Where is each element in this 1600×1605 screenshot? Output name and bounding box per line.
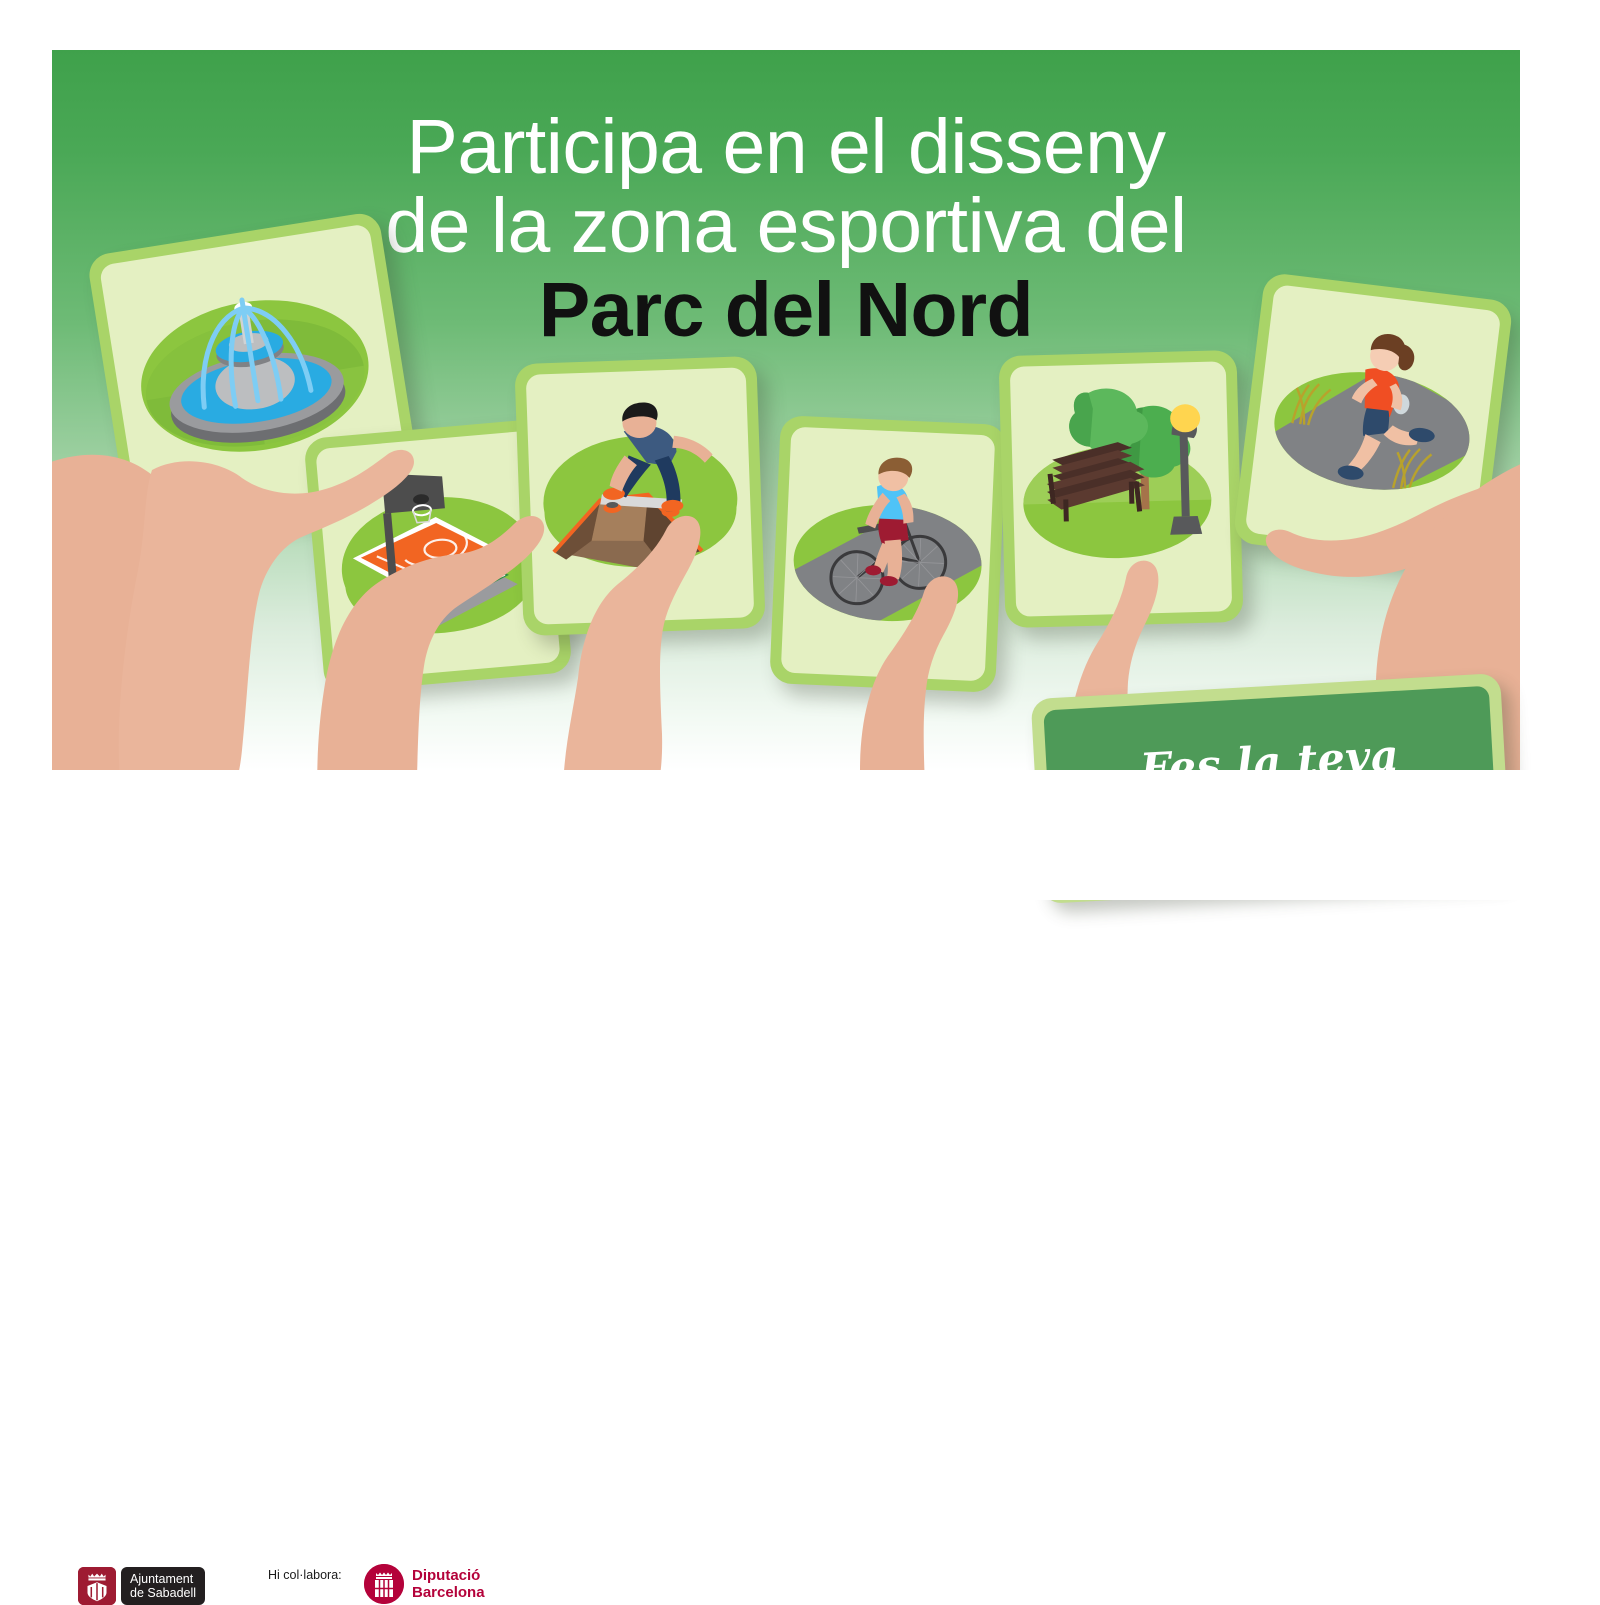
sabadell-line-2: de Sabadell xyxy=(130,1586,196,1600)
park-bench-icon xyxy=(1010,361,1232,617)
sabadell-name-plate: Ajuntament de Sabadell xyxy=(121,1567,205,1605)
card-running-track[interactable] xyxy=(1232,272,1513,572)
card-bike-path[interactable] xyxy=(769,415,1006,693)
sabadell-line-1: Ajuntament xyxy=(130,1572,193,1586)
diputacio-line-2: Barcelona xyxy=(412,1584,485,1601)
card-park-bench-face xyxy=(1010,361,1232,617)
logo-diputacio-barcelona[interactable]: Diputació Barcelona xyxy=(364,1564,485,1604)
diputacio-line-1: Diputació xyxy=(412,1567,480,1584)
headline-line-1: Participa en el disseny xyxy=(52,108,1520,187)
running-track-icon xyxy=(1245,284,1502,560)
card-park-bench[interactable] xyxy=(998,350,1243,628)
footer-bar: Ajuntament de Sabadell Hi col·labora: xyxy=(0,770,1600,900)
skatepark-icon xyxy=(526,367,755,625)
card-bike-path-face xyxy=(781,427,996,682)
diputacio-crest-icon xyxy=(364,1564,404,1604)
diputacio-name: Diputació Barcelona xyxy=(412,1567,485,1601)
hero-panel: Participa en el disseny de la zona espor… xyxy=(52,50,1520,770)
bike-path-icon xyxy=(781,427,996,682)
poster-canvas: Participa en el disseny de la zona espor… xyxy=(0,0,1600,900)
card-running-track-face xyxy=(1245,284,1502,560)
collaborator-label: Hi col·labora: xyxy=(268,1568,342,1582)
sabadell-crest-icon xyxy=(78,1567,116,1605)
card-skatepark[interactable] xyxy=(514,356,765,636)
logo-ajuntament-sabadell[interactable]: Ajuntament de Sabadell xyxy=(78,1567,205,1605)
card-skatepark-face xyxy=(526,367,755,625)
